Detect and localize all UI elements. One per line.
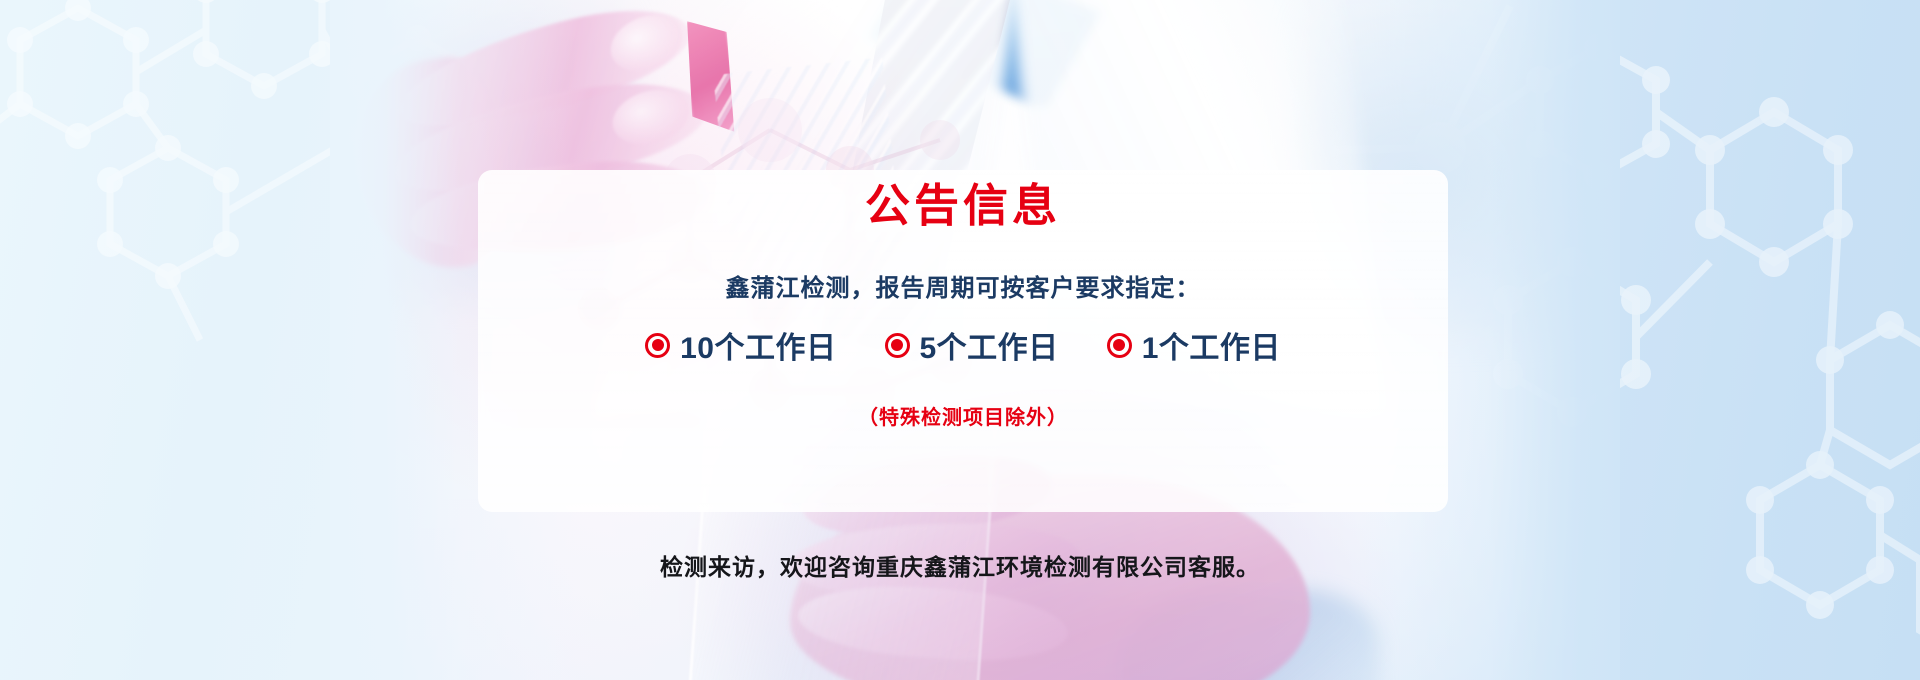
option-label: 5个工作日 [920, 323, 1059, 367]
banner-caption: 检测来访，欢迎咨询重庆鑫蒲江环境检测有限公司客服。 [0, 548, 1920, 582]
card-note: （特殊检测项目除外） [478, 401, 1448, 430]
option-10-working-days[interactable]: 10个工作日 [645, 323, 836, 367]
card-subtitle: 鑫蒲江检测，报告周期可按客户要求指定： [478, 268, 1448, 303]
announcement-banner: 公告信息 鑫蒲江检测，报告周期可按客户要求指定： 10个工作日 5个工作日 1个… [0, 0, 1920, 680]
option-5-working-days[interactable]: 5个工作日 [885, 323, 1059, 367]
radio-filled-icon [885, 333, 910, 358]
radio-filled-icon [1107, 333, 1132, 358]
option-label: 10个工作日 [680, 323, 836, 367]
announcement-card: 公告信息 鑫蒲江检测，报告周期可按客户要求指定： 10个工作日 5个工作日 1个… [478, 170, 1448, 512]
page-title: 公告信息 [478, 178, 1448, 234]
option-1-working-day[interactable]: 1个工作日 [1107, 323, 1281, 367]
option-label: 1个工作日 [1142, 323, 1281, 367]
radio-filled-icon [645, 333, 670, 358]
turnaround-options-list: 10个工作日 5个工作日 1个工作日 [478, 323, 1448, 367]
